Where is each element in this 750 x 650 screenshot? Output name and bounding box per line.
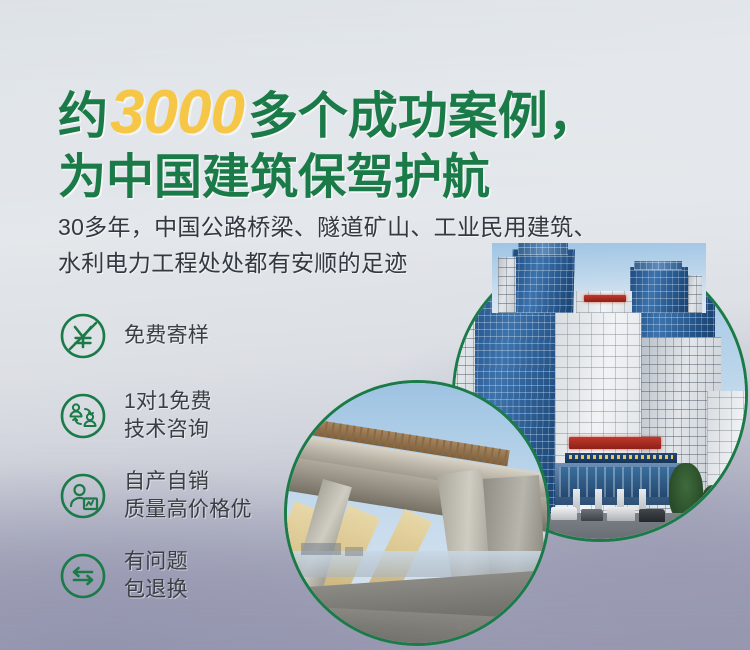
free-sample-icon: [58, 311, 108, 361]
headline-suffix: 多个成功案例，: [248, 88, 598, 144]
return-exchange-icon: [58, 551, 108, 601]
feature-item-free-sample[interactable]: 免费寄样: [58, 296, 358, 376]
feature-label-self-produced: 自产自销 质量高价格优: [124, 468, 252, 524]
one-on-one-consult-icon: [58, 391, 108, 441]
headline-line-1: 约3000多个成功案例，: [58, 82, 718, 144]
feature-label-return-exchange: 有问题 包退换: [124, 548, 188, 604]
feature-label-free-sample: 免费寄样: [124, 322, 209, 350]
headline: 约3000多个成功案例， 为中国建筑保驾护航: [58, 82, 718, 202]
self-produced-quality-icon: [58, 471, 108, 521]
subtitle-line-1: 30多年，中国公路桥梁、隧道矿山、工业民用建筑、: [58, 209, 738, 245]
headline-prefix: 约: [58, 88, 108, 144]
headline-number: 3000: [108, 78, 248, 147]
building-bleed-art: [492, 243, 706, 313]
headline-line-2: 为中国建筑保驾护航: [58, 154, 718, 202]
promo-banner: 约3000多个成功案例， 为中国建筑保驾护航 30多年，中国公路桥梁、隧道矿山、…: [0, 0, 750, 650]
bridge-photo-art: [287, 383, 547, 643]
building-photo-bleed: [492, 243, 706, 313]
bridge-photo: [284, 380, 550, 646]
feature-label-one-on-one: 1对1免费 技术咨询: [124, 388, 212, 444]
